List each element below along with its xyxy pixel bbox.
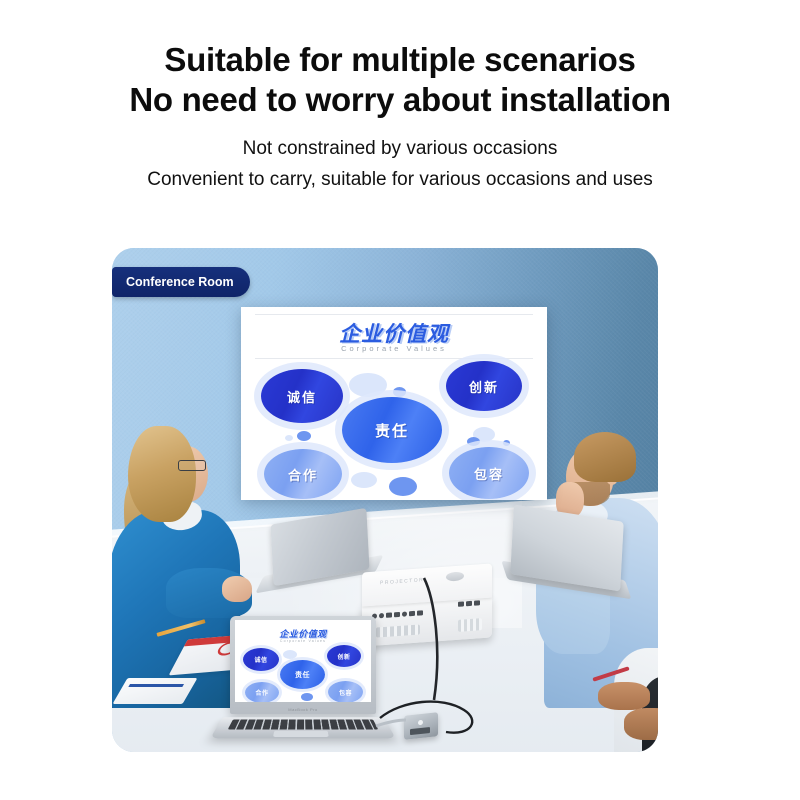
- mini-decor-circle-1: [283, 650, 297, 659]
- value-bubble-label: 创新: [469, 377, 499, 396]
- decor-circle-4: [285, 435, 293, 441]
- foreground-laptop-lid: 企业价值观 Corporate Values 诚信 创新 责任 合作 包容: [230, 616, 376, 714]
- foreground-laptop-screen: 企业价值观 Corporate Values 诚信 创新 责任 合作 包容: [235, 620, 371, 702]
- foreground-laptop-base: [210, 717, 396, 738]
- eyeglasses-icon: [178, 460, 206, 471]
- decor-circle-3: [297, 431, 311, 441]
- projector-port: [379, 613, 384, 618]
- projector-port: [417, 610, 423, 615]
- mini-bubble-baorong: 包容: [328, 681, 363, 702]
- conference-room-badge: Conference Room: [112, 267, 250, 297]
- mini-bubble-hezuo: 合作: [245, 682, 279, 702]
- value-bubble-zeren: 责任: [342, 397, 442, 463]
- mini-bubble-label: 合作: [255, 688, 268, 697]
- laptop-brand-label: MacBook Pro: [230, 707, 376, 712]
- value-bubble-hezuo: 合作: [264, 449, 342, 499]
- projector-port: [409, 610, 415, 615]
- laptop-trackpad[interactable]: [273, 731, 329, 737]
- person-left-hair: [128, 426, 196, 522]
- decor-circle-8: [351, 472, 377, 488]
- page-heading: Suitable for multiple scenarios No need …: [0, 40, 800, 120]
- subheadline-line-1: Not constrained by various occasions: [0, 133, 800, 164]
- projection-screen: 企业价值观 Corporate Values 诚信 创新 责任: [241, 307, 547, 500]
- subheadline-line-2: Convenient to carry, suitable for variou…: [0, 164, 800, 195]
- foreground-laptop: 企业价值观 Corporate Values 诚信 创新 责任 合作 包容: [230, 616, 376, 744]
- value-bubble-chengxin: 诚信: [261, 369, 343, 423]
- mini-decor-circle-2: [301, 693, 313, 701]
- slide-subtitle: Corporate Values: [241, 344, 547, 353]
- scene-photo: 企业价值观 Corporate Values 诚信 创新 责任: [112, 248, 658, 752]
- projector-port: [474, 600, 480, 605]
- person-right-hair: [574, 432, 636, 482]
- person-bottom-right-hand-upper: [598, 682, 650, 710]
- headline-line-1: Suitable for multiple scenarios: [0, 40, 800, 80]
- decor-circle-6: [467, 437, 480, 446]
- mini-bubble-zeren: 责任: [280, 660, 325, 689]
- person-bottom-right: [586, 598, 658, 752]
- value-bubble-label: 合作: [288, 465, 318, 484]
- value-bubble-label: 责任: [375, 420, 409, 441]
- projector-brand-label: PROJECTOR: [380, 577, 424, 586]
- slide-rule: [255, 358, 533, 359]
- slide-rule-top: [255, 314, 533, 315]
- projector-port: [458, 601, 464, 606]
- decor-circle-7: [503, 440, 510, 446]
- value-bubble-chuangxin: 创新: [446, 361, 522, 411]
- value-bubble-baorong: 包容: [449, 447, 529, 499]
- mini-bubble-label: 包容: [339, 688, 352, 697]
- usb-hub-port: [410, 727, 430, 735]
- mini-bubble-label: 责任: [295, 670, 310, 680]
- projector-port: [394, 611, 400, 616]
- mini-bubble-label: 创新: [337, 652, 350, 661]
- laptop-keyboard[interactable]: [228, 719, 379, 729]
- decor-circle-9: [389, 477, 417, 496]
- person-bottom-right-hand-lower: [624, 708, 658, 740]
- conference-room-badge-label: Conference Room: [126, 275, 234, 289]
- person-left-hand: [222, 576, 252, 602]
- mini-bubble-chengxin: 诚信: [243, 648, 279, 671]
- projector-port: [386, 612, 392, 617]
- headline-line-2: No need to worry about installation: [0, 80, 800, 120]
- mini-bubble-chuangxin: 创新: [327, 645, 361, 667]
- decor-circle-2: [393, 387, 406, 397]
- mini-slide-subtitle: Corporate Values: [235, 639, 371, 643]
- projector-port: [466, 601, 472, 606]
- value-bubble-label: 诚信: [287, 387, 317, 406]
- projector-vent-right: [458, 618, 482, 632]
- page-subheading: Not constrained by various occasions Con…: [0, 133, 800, 195]
- usb-hub-indicator-icon: [418, 720, 423, 726]
- projector-lens-icon: [446, 571, 464, 581]
- usb-hub-adapter: [404, 712, 438, 740]
- mini-bubble-label: 诚信: [254, 655, 267, 664]
- projector-device: PROJECTOR: [362, 563, 492, 650]
- value-bubble-label: 包容: [474, 464, 504, 483]
- decor-circle-1: [349, 373, 387, 397]
- projector-port: [402, 611, 407, 616]
- projection-slide: 企业价值观 Corporate Values 诚信 创新 责任: [241, 307, 547, 500]
